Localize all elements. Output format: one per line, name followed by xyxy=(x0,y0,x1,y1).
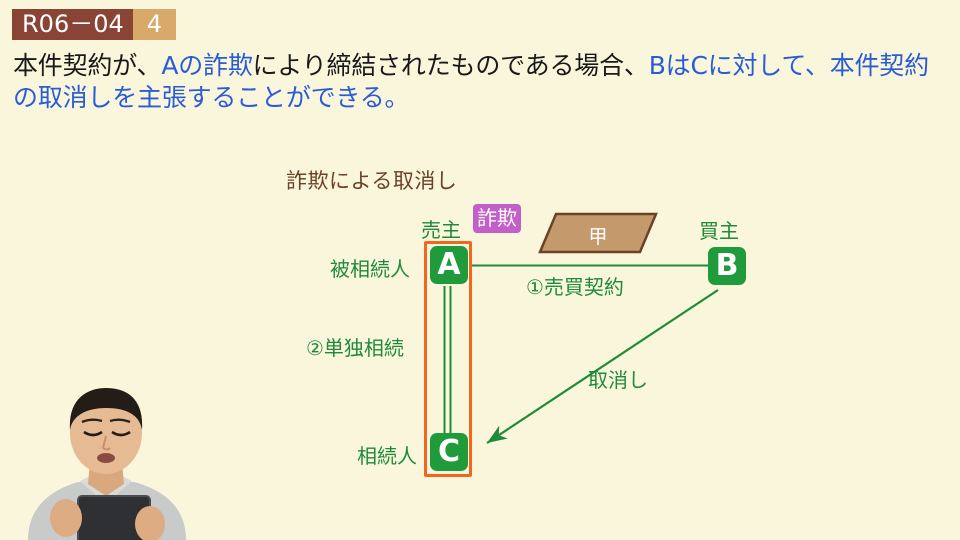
edge-label-sole-inheritance: ②単独相続 xyxy=(306,332,404,361)
node-a: A xyxy=(430,246,468,284)
fraud-badge: 詐欺 xyxy=(473,204,521,233)
slide-root: R06－04 4 本件契約が、Aの詐欺により締結されたものである場合、BはCに対… xyxy=(0,0,960,540)
edge-label-sale-contract: ①売買契約 xyxy=(526,271,624,300)
property-shape-wrap: 甲 xyxy=(540,214,656,252)
presenter-hand-left xyxy=(50,499,82,537)
caption-buyer: 買主 xyxy=(699,215,739,244)
caption-decedent: 被相続人 xyxy=(330,253,410,282)
caption-seller: 売主 xyxy=(421,214,461,243)
node-b: B xyxy=(708,247,746,285)
caption-heir: 相続人 xyxy=(357,440,417,469)
edge-label-rescission: 取消し xyxy=(588,364,648,393)
node-c: C xyxy=(430,433,468,471)
property-label: 甲 xyxy=(540,222,656,249)
presenter-video-overlay xyxy=(0,380,212,540)
presenter-mouth xyxy=(97,453,115,463)
